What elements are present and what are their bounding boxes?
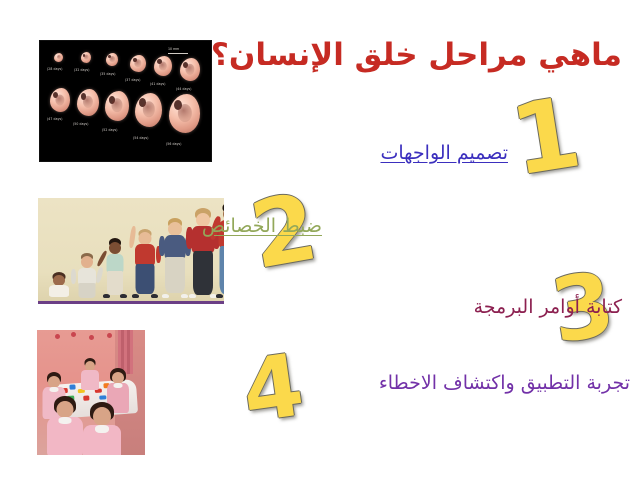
embryo-stage [50,88,70,112]
embryo-stage [154,56,172,76]
wall-decoration [71,332,76,337]
embryo-development-chart: (28 days) (32 days) (35 days) (37 days) … [39,40,212,162]
step-label-1: تصميم الواجهات [380,142,508,164]
step-number-1: 1 [505,83,587,189]
embryo-caption: (37 days) [125,78,141,82]
student-figure [45,396,85,455]
embryo-caption: (47 days) [47,117,63,121]
wall-decoration [107,333,112,338]
embryo-caption: (41 days) [150,82,166,86]
embryo-stage [106,53,118,66]
wall-decoration [89,335,94,340]
embryo-caption: (52 days) [102,128,118,132]
embryo-caption: (35 days) [100,72,116,76]
page-title: ماهي مراحل خلق الإنسان؟ [222,38,622,74]
embryo-caption: (32 days) [74,68,90,72]
classroom-activity-photo [37,330,145,455]
step-label-2: ضبط الخصائص [202,215,322,237]
embryo-stage [169,94,200,133]
embryo-stage [105,91,129,121]
embryo-caption: (44 days) [176,87,192,91]
embryo-stage [130,55,146,72]
embryo-stage [180,58,200,81]
embryo-caption: (50 days) [73,122,89,126]
embryo-caption: (56 days) [166,142,182,146]
embryo-stage [135,93,162,127]
step-number-4: 4 [237,342,308,435]
embryo-caption: (54 days) [133,136,149,140]
child-figure [128,226,162,298]
wall-decoration [55,334,60,339]
child-figure [44,272,74,298]
step-label-3: كتابة أوامر البرمجة [474,296,622,318]
children-growth-photo [38,198,224,304]
embryo-stage [54,53,63,62]
scale-bar [168,53,188,54]
scale-label: 10 mm [168,47,179,51]
step-label-4: تجربة التطبيق واكتشاف الاخطاء [379,372,630,394]
student-figure [81,402,123,455]
child-figure [100,238,130,298]
slide-canvas: ماهي مراحل خلق الإنسان؟ (28 days) (32 da… [0,0,640,480]
student-figure [79,358,101,390]
child-figure [72,253,102,298]
embryo-caption: (28 days) [47,67,63,71]
embryo-stage [81,52,91,63]
embryo-stage [77,89,99,116]
